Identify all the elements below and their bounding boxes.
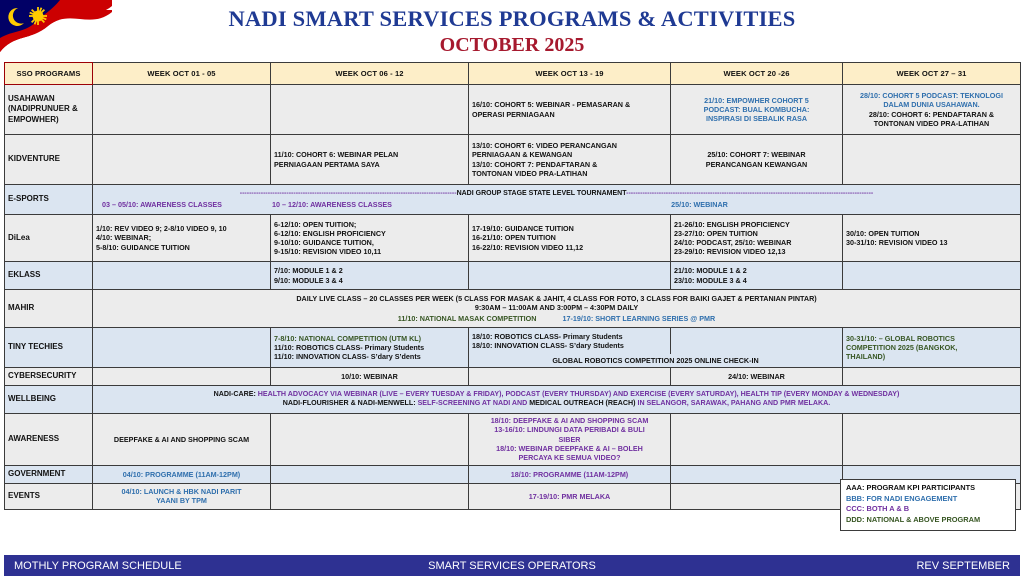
table-header-row: SSO PROGRAMS WEEK OCT 01 - 05 WEEK OCT 0… bbox=[5, 63, 1021, 85]
text-line: 7-8/10: NATIONAL COMPETITION (UTM KL) bbox=[274, 334, 465, 343]
cell-events-w3: 17-19/10: PMR MELAKA bbox=[469, 483, 671, 509]
row-label-eklass: EKLASS bbox=[5, 262, 93, 290]
table-row: USAHAWAN (NADIPRUNUER & EMPOWHER) 16/10:… bbox=[5, 85, 1021, 135]
cell-kidventure-w5 bbox=[843, 135, 1021, 185]
text-line: DALAM DUNIA USAHAWAN. bbox=[846, 100, 1017, 109]
cell-dilea-w2: 6-12/10: OPEN TUITION; 6-12/10: ENGLISH … bbox=[271, 215, 469, 262]
text-line: 16-21/10: OPEN TUITION bbox=[472, 233, 667, 242]
text-line: 11/10: COHORT 6: WEBINAR PELAN bbox=[274, 150, 465, 159]
cell-awareness-w5 bbox=[843, 413, 1021, 465]
states-text: IN SELANGOR, SARAWAK, PAHANG AND PMR MEL… bbox=[637, 399, 830, 407]
text-line: 9/10: MODULE 3 & 4 bbox=[274, 276, 465, 285]
text-line: 11/10: INNOVATION CLASS- S’dary S’dents bbox=[274, 352, 465, 361]
row-label-tinytechies: TINY TECHIES bbox=[5, 328, 93, 368]
cell-government-w2 bbox=[271, 465, 469, 483]
nadi-flourisher-label: NADI-FLOURISHER & NADI-MENWELL: bbox=[283, 399, 418, 407]
column-header-week2: WEEK OCT 06 - 12 bbox=[271, 63, 469, 85]
text-line: 04/10: LAUNCH & HBK NADI PARIT bbox=[96, 487, 267, 496]
text-line: 25/10: COHORT 7: WEBINAR bbox=[674, 150, 839, 159]
table-row: E-SPORTS -------------------------------… bbox=[5, 185, 1021, 215]
cell-kidventure-w2: 11/10: COHORT 6: WEBINAR PELAN PERNIAGAA… bbox=[271, 135, 469, 185]
banner-text: NADI GROUP STAGE STATE LEVEL TOURNAMENT bbox=[457, 190, 627, 197]
row-label-events: EVENTS bbox=[5, 483, 93, 509]
text-line: PODCAST: BUAL KOMBUCHA: bbox=[674, 105, 839, 114]
text-line: INSPIRASI DI SEBALIK RASA bbox=[674, 114, 839, 123]
table-row: WELLBEING NADI-CARE: HEALTH ADVOCACY VIA… bbox=[5, 385, 1021, 413]
cell-events-w1: 04/10: LAUNCH & HBK NADI PARIT YAANI BY … bbox=[93, 483, 271, 509]
footer-right: REV SEPTEMBER bbox=[681, 560, 1010, 572]
text-line: 24/10: PODCAST, 25/10: WEBINAR bbox=[674, 238, 839, 247]
text-line: TONTONAN VIDEO PRA-LATIHAN bbox=[846, 119, 1017, 128]
row-label-government: GOVERNMENT bbox=[5, 465, 93, 483]
text-line: 30/10: OPEN TUITION bbox=[846, 229, 1017, 238]
text-line: THAILAND) bbox=[846, 352, 1017, 361]
cell-tinytechies-global-checkin: GLOBAL ROBOTICS COMPETITION 2025 ONLINE … bbox=[469, 354, 843, 368]
cell-tinytechies-w5: 30-31/10: – GLOBAL ROBOTICS COMPETITION … bbox=[843, 328, 1021, 368]
cell-mahir-span: DAILY LIVE CLASS – 20 CLASSES PER WEEK (… bbox=[93, 290, 1021, 328]
table-row: CYBERSECURITY 10/10: WEBINAR 24/10: WEBI… bbox=[5, 367, 1021, 385]
cell-usahawan-w3: 16/10: COHORT 5: WEBINAR - PEMASARAN & O… bbox=[469, 85, 671, 135]
cell-awareness-w1: DEEPFAKE & AI AND SHOPPING SCAM bbox=[93, 413, 271, 465]
cell-tinytechies-w4 bbox=[671, 328, 843, 354]
row-label-wellbeing: WELLBEING bbox=[5, 385, 93, 413]
cell-government-w4 bbox=[671, 465, 843, 483]
text-line: 21/10: EMPOWHER COHORT 5 bbox=[674, 96, 839, 105]
text-line: TONTONAN VIDEO PRA-LATIHAN bbox=[472, 169, 667, 178]
legend-item-aaa: AAA: PROGRAM KPI PARTICIPANTS bbox=[846, 483, 1010, 494]
text-line: 11/10: ROBOTICS CLASS- Primary Students bbox=[274, 343, 465, 352]
esports-banner: ----------------------------------------… bbox=[96, 190, 1017, 199]
text-line: 18/10: ROBOTICS CLASS- Primary Students bbox=[472, 332, 667, 341]
medical-outreach-text: MEDICAL OUTREACH (REACH) bbox=[529, 399, 637, 407]
cell-usahawan-w2 bbox=[271, 85, 469, 135]
text-line: 18/10: DEEPFAKE & AI AND SHOPPING SCAM bbox=[472, 416, 667, 425]
cell-eklass-w2: 7/10: MODULE 1 & 2 9/10: MODULE 3 & 4 bbox=[271, 262, 469, 290]
footer-middle: SMART SERVICES OPERATORS bbox=[343, 560, 682, 572]
legend-item-ccc: CCC: BOTH A & B bbox=[846, 504, 1010, 515]
cell-cyber-w5 bbox=[843, 367, 1021, 385]
dash-left: ----------------------------------------… bbox=[240, 190, 457, 197]
text-line: PERCAYA KE SEMUA VIDEO? bbox=[472, 453, 667, 462]
text-line: PERNIAGAAN & KEWANGAN bbox=[472, 150, 667, 159]
esports-item-1: 03 – 05/10: AWARENESS CLASSES bbox=[96, 200, 272, 209]
column-header-week5: WEEK OCT 27 – 31 bbox=[843, 63, 1021, 85]
cell-tinytechies-w2: 7-8/10: NATIONAL COMPETITION (UTM KL) 11… bbox=[271, 328, 469, 368]
text-line: 6-12/10: ENGLISH PROFICIENCY bbox=[274, 229, 465, 238]
footer-left: MOTHLY PROGRAM SCHEDULE bbox=[14, 560, 343, 572]
text-line: 17-19/10: GUIDANCE TUITION bbox=[472, 224, 667, 233]
row-label-dilea: DiLea bbox=[5, 215, 93, 262]
cell-eklass-w4: 21/10: MODULE 1 & 2 23/10: MODULE 3 & 4 bbox=[671, 262, 843, 290]
text-line: 9-15/10: REVISION VIDEO 10,11 bbox=[274, 247, 465, 256]
cell-cyber-w2: 10/10: WEBINAR bbox=[271, 367, 469, 385]
malaysia-flag-icon bbox=[0, 0, 112, 60]
column-header-week1: WEEK OCT 01 - 05 bbox=[93, 63, 271, 85]
cell-tinytechies-w3: 18/10: ROBOTICS CLASS- Primary Students … bbox=[469, 328, 671, 354]
row-label-esports: E-SPORTS bbox=[5, 185, 93, 215]
table-row: TINY TECHIES 7-8/10: NATIONAL COMPETITIO… bbox=[5, 328, 1021, 354]
text-line: 16/10: COHORT 5: WEBINAR - PEMASARAN & bbox=[472, 100, 667, 109]
table-row: AWARENESS DEEPFAKE & AI AND SHOPPING SCA… bbox=[5, 413, 1021, 465]
cell-government-w3: 18/10: PROGRAMME (11AM-12PM) bbox=[469, 465, 671, 483]
text-line: 16-22/10: REVISION VIDEO 11,12 bbox=[472, 243, 667, 252]
legend-box: AAA: PROGRAM KPI PARTICIPANTS BBB: FOR N… bbox=[840, 479, 1016, 531]
page-title: NADI SMART SERVICES PROGRAMS & ACTIVITIE… bbox=[0, 4, 1024, 31]
text-line: PERNIAGAAN PERTAMA SAYA bbox=[274, 160, 465, 169]
text-line: 21-26/10: ENGLISH PROFICIENCY bbox=[674, 220, 839, 229]
cell-cyber-w1 bbox=[93, 367, 271, 385]
schedule-page: NADI SMART SERVICES PROGRAMS & ACTIVITIE… bbox=[0, 0, 1024, 576]
row-label-cybersecurity: CYBERSECURITY bbox=[5, 367, 93, 385]
cell-dilea-w1: 1/10: REV VIDEO 9; 2-8/10 VIDEO 9, 10 4/… bbox=[93, 215, 271, 262]
text-line: 6-12/10: OPEN TUITION; bbox=[274, 220, 465, 229]
self-screening-text: SELF-SCREENING AT NADI AND bbox=[418, 399, 530, 407]
nadi-care-text: HEALTH ADVOCACY VIA WEBINAR (LIVE – EVER… bbox=[258, 390, 900, 398]
text-line: 23-29/10: REVISION VIDEO 12,13 bbox=[674, 247, 839, 256]
wellbeing-line-1: NADI-CARE: HEALTH ADVOCACY VIA WEBINAR (… bbox=[96, 390, 1017, 399]
cell-events-w4 bbox=[671, 483, 843, 509]
row-label-usahawan: USAHAWAN (NADIPRUNUER & EMPOWHER) bbox=[5, 85, 93, 135]
cell-dilea-w3: 17-19/10: GUIDANCE TUITION 16-21/10: OPE… bbox=[469, 215, 671, 262]
cell-usahawan-w4: 21/10: EMPOWHER COHORT 5 PODCAST: BUAL K… bbox=[671, 85, 843, 135]
text-line: 23/10: MODULE 3 & 4 bbox=[674, 276, 839, 285]
column-header-week4: WEEK OCT 20 -26 bbox=[671, 63, 843, 85]
mahir-item-blue: 17-19/10: SHORT LEARNING SERIES @ PMR bbox=[562, 314, 715, 323]
text-line: 5-8/10: GUIDANCE TUITION bbox=[96, 243, 267, 252]
text-line: 13-16/10: LINDUNGI DATA PERIBADI & BULI bbox=[472, 425, 667, 434]
cell-tinytechies-w1 bbox=[93, 328, 271, 368]
page-subtitle: OCTOBER 2025 bbox=[0, 31, 1024, 56]
esports-item-2: 10 – 12/10: AWARENESS CLASSES bbox=[272, 200, 502, 209]
cell-kidventure-w4: 25/10: COHORT 7: WEBINAR PERANCANGAN KEW… bbox=[671, 135, 843, 185]
cell-eklass-w1 bbox=[93, 262, 271, 290]
cell-eklass-w3 bbox=[469, 262, 671, 290]
text-line: 13/10: COHORT 7: PENDAFTARAN & bbox=[472, 160, 667, 169]
column-header-week3: WEEK OCT 13 - 19 bbox=[469, 63, 671, 85]
wellbeing-line-2: NADI-FLOURISHER & NADI-MENWELL: SELF-SCR… bbox=[96, 399, 1017, 408]
table-row: KIDVENTURE 11/10: COHORT 6: WEBINAR PELA… bbox=[5, 135, 1021, 185]
esports-item-3: 25/10: WEBINAR bbox=[502, 200, 1017, 209]
text-line: 1/10: REV VIDEO 9; 2-8/10 VIDEO 9, 10 bbox=[96, 224, 267, 233]
cell-awareness-w4 bbox=[671, 413, 843, 465]
cell-events-w2 bbox=[271, 483, 469, 509]
cell-usahawan-w1 bbox=[93, 85, 271, 135]
table-row: MAHIR DAILY LIVE CLASS – 20 CLASSES PER … bbox=[5, 290, 1021, 328]
table-row: EKLASS 7/10: MODULE 1 & 2 9/10: MODULE 3… bbox=[5, 262, 1021, 290]
row-label-mahir: MAHIR bbox=[5, 290, 93, 328]
text-line: 13/10: COHORT 6: VIDEO PERANCANGAN bbox=[472, 141, 667, 150]
text-line: OPERASI PERNIAGAAN bbox=[472, 110, 667, 119]
dash-right: ----------------------------------------… bbox=[626, 190, 873, 197]
cell-dilea-w4: 21-26/10: ENGLISH PROFICIENCY 23-27/10: … bbox=[671, 215, 843, 262]
cell-cyber-w3 bbox=[469, 367, 671, 385]
cell-wellbeing-span: NADI-CARE: HEALTH ADVOCACY VIA WEBINAR (… bbox=[93, 385, 1021, 413]
mahir-line-2: 9:30AM – 11:00AM AND 3:00PM – 4:30PM DAI… bbox=[96, 303, 1017, 312]
text-line: 28/10: COHORT 5 PODCAST: TEKNOLOGI bbox=[846, 91, 1017, 100]
cell-dilea-w5: 30/10: OPEN TUITION 30-31/10: REVISION V… bbox=[843, 215, 1021, 262]
footer-bar: MOTHLY PROGRAM SCHEDULE SMART SERVICES O… bbox=[4, 555, 1020, 576]
text-line: 30-31/10: – GLOBAL ROBOTICS bbox=[846, 334, 1017, 343]
text-line: 7/10: MODULE 1 & 2 bbox=[274, 266, 465, 275]
column-header-sso: SSO PROGRAMS bbox=[5, 63, 93, 85]
text-line: 4/10: WEBINAR; bbox=[96, 233, 267, 242]
text-line: SIBER bbox=[472, 435, 667, 444]
text-line: COMPETITION 2025 (BANGKOK, bbox=[846, 343, 1017, 352]
cell-usahawan-w5: 28/10: COHORT 5 PODCAST: TEKNOLOGI DALAM… bbox=[843, 85, 1021, 135]
text-line: 21/10: MODULE 1 & 2 bbox=[674, 266, 839, 275]
mahir-line-1: DAILY LIVE CLASS – 20 CLASSES PER WEEK (… bbox=[96, 294, 1017, 303]
cell-government-w1: 04/10: PROGRAMME (11AM-12PM) bbox=[93, 465, 271, 483]
nadi-care-label: NADI-CARE: bbox=[214, 390, 258, 398]
text-line: 30-31/10: REVISION VIDEO 13 bbox=[846, 238, 1017, 247]
text-line: 18/10: WEBINAR DEEPFAKE & AI – BOLEH bbox=[472, 444, 667, 453]
cell-awareness-w3: 18/10: DEEPFAKE & AI AND SHOPPING SCAM 1… bbox=[469, 413, 671, 465]
text-line: 23-27/10: OPEN TUITION bbox=[674, 229, 839, 238]
cell-esports-span: ----------------------------------------… bbox=[93, 185, 1021, 215]
text-line: PERANCANGAN KEWANGAN bbox=[674, 160, 839, 169]
cell-eklass-w5 bbox=[843, 262, 1021, 290]
row-label-kidventure: KIDVENTURE bbox=[5, 135, 93, 185]
legend-item-ddd: DDD: NATIONAL & ABOVE PROGRAM bbox=[846, 515, 1010, 526]
page-header: NADI SMART SERVICES PROGRAMS & ACTIVITIE… bbox=[0, 0, 1024, 62]
cell-awareness-w2 bbox=[271, 413, 469, 465]
table-row: DiLea 1/10: REV VIDEO 9; 2-8/10 VIDEO 9,… bbox=[5, 215, 1021, 262]
mahir-item-green: 11/10: NATIONAL MASAK COMPETITION bbox=[398, 314, 537, 323]
text-line: 28/10: COHORT 6: PENDAFTARAN & bbox=[846, 110, 1017, 119]
cell-kidventure-w3: 13/10: COHORT 6: VIDEO PERANCANGAN PERNI… bbox=[469, 135, 671, 185]
text-line: YAANI BY TPM bbox=[96, 496, 267, 505]
schedule-table: SSO PROGRAMS WEEK OCT 01 - 05 WEEK OCT 0… bbox=[4, 62, 1021, 510]
cell-cyber-w4: 24/10: WEBINAR bbox=[671, 367, 843, 385]
text-line: 9-10/10: GUIDANCE TUITION, bbox=[274, 238, 465, 247]
text-line: 18/10: INNOVATION CLASS- S’dary Students bbox=[472, 341, 667, 350]
legend-item-bbb: BBB: FOR NADI ENGAGEMENT bbox=[846, 494, 1010, 505]
cell-kidventure-w1 bbox=[93, 135, 271, 185]
row-label-awareness: AWARENESS bbox=[5, 413, 93, 465]
